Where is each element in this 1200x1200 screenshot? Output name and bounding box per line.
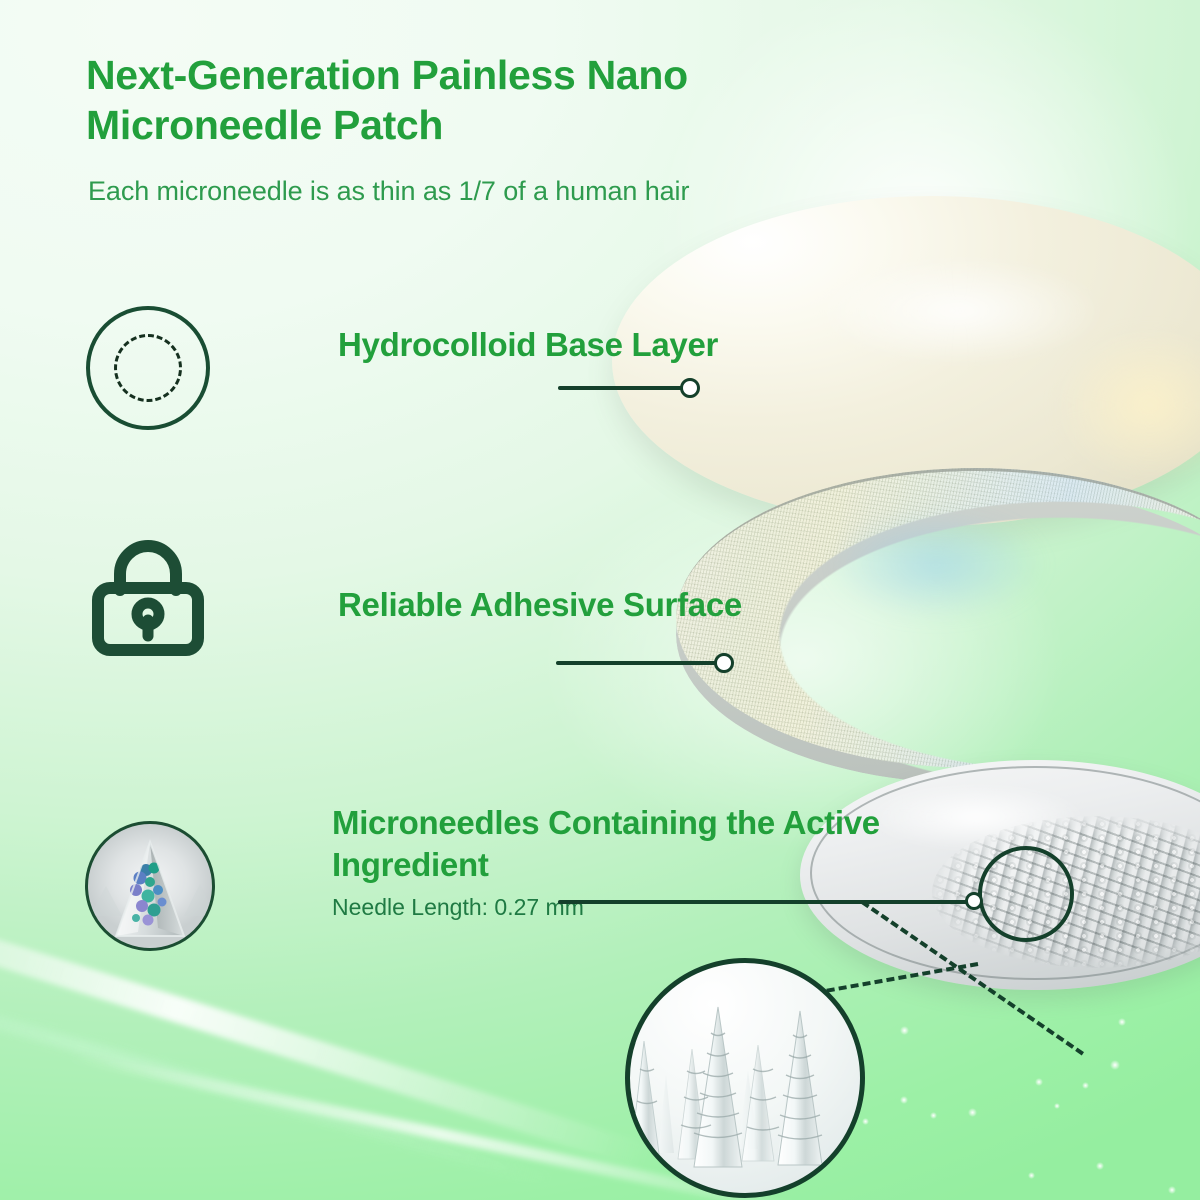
feature-icon-slot xyxy=(80,300,216,436)
leader-endpoint-base-layer xyxy=(680,378,700,398)
dashed-inner-circle xyxy=(114,334,182,402)
feature-icon-slot xyxy=(80,528,216,664)
feature-title: Reliable Adhesive Surface xyxy=(338,584,858,626)
leader-line-adhesive-surface xyxy=(556,661,728,665)
feature-text: Reliable Adhesive Surface xyxy=(338,584,858,626)
feature-title: Hydrocolloid Base Layer xyxy=(338,324,858,366)
leader-endpoint-adhesive-surface xyxy=(714,653,734,673)
pyramid-with-particles-illustration xyxy=(88,824,215,951)
padlock-icon xyxy=(88,534,208,658)
microneedle-cones-illustration xyxy=(630,963,860,1193)
page-title: Next-Generation Painless Nano Microneedl… xyxy=(86,50,806,150)
microneedle-closeup-inset xyxy=(625,958,865,1198)
feature-subtitle: Needle Length: 0.27 mm xyxy=(332,894,952,921)
feature-icon-slot xyxy=(80,816,220,956)
leader-line-microneedles xyxy=(558,900,978,904)
infographic-canvas: Next-Generation Painless Nano Microneedl… xyxy=(0,0,1200,1200)
leader-line-base-layer xyxy=(558,386,694,390)
feature-title: Microneedles Containing the Active Ingre… xyxy=(332,802,952,886)
page-subtitle: Each microneedle is as thin as 1/7 of a … xyxy=(88,176,868,207)
microneedle-pyramid-photo-icon xyxy=(85,821,215,951)
needle-highlight-ring xyxy=(978,846,1074,942)
leader-endpoint-microneedles xyxy=(965,892,983,910)
dashed-circle-icon xyxy=(86,306,210,430)
feature-text: Hydrocolloid Base Layer xyxy=(338,324,858,366)
